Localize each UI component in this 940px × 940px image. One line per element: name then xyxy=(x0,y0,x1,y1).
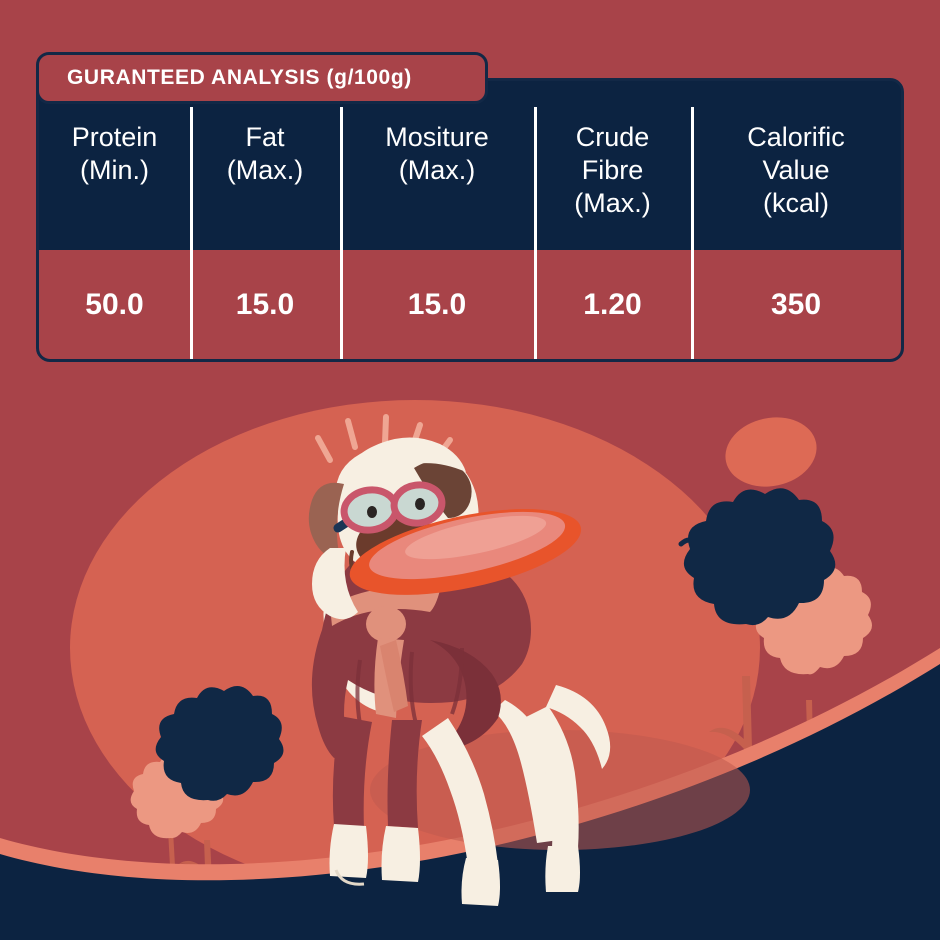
table-header-cell-fat: Fat (Max.) xyxy=(190,107,340,250)
nutrition-table-title: GURANTEED ANALYSIS (g/100g) xyxy=(67,66,412,90)
table-header-cell-protein: Protein (Min.) xyxy=(39,107,190,250)
dog-back-paw xyxy=(462,858,501,906)
value-label: 350 xyxy=(771,288,821,322)
dog-eye-left xyxy=(367,506,377,518)
value-label: 50.0 xyxy=(85,288,143,322)
header-label: Fat (Max.) xyxy=(227,107,304,187)
motion-line xyxy=(385,417,386,443)
table-header-cell-calorific-value: Calorific Value (kcal) xyxy=(691,107,901,250)
table-header-row: Protein (Min.) Fat (Max.) Mositure (Max.… xyxy=(39,81,901,250)
header-label: Crude Fibre (Max.) xyxy=(574,107,651,220)
table-value-cell-crude-fibre: 1.20 xyxy=(534,250,691,359)
table-header-cell-moisture: Mositure (Max.) xyxy=(340,107,534,250)
table-header-cell-crude-fibre: Crude Fibre (Max.) xyxy=(534,107,691,250)
dog-front-paw-right xyxy=(382,826,421,882)
table-value-cell-moisture: 15.0 xyxy=(340,250,534,359)
header-label: Mositure (Max.) xyxy=(385,107,489,187)
nutrition-table-title-badge: GURANTEED ANALYSIS (g/100g) xyxy=(36,52,488,104)
table-value-row: 50.0 15.0 15.0 1.20 350 xyxy=(39,250,901,359)
value-label: 15.0 xyxy=(236,288,294,322)
table-value-cell-fat: 15.0 xyxy=(190,250,340,359)
dog-rear-paw xyxy=(545,846,580,892)
scarf-knot xyxy=(366,606,406,642)
header-label: Protein (Min.) xyxy=(72,107,158,187)
dog-front-paw-left xyxy=(330,824,369,878)
value-label: 1.20 xyxy=(583,288,641,322)
value-label: 15.0 xyxy=(408,288,466,322)
dog-front-leg-right xyxy=(388,720,423,828)
nutrition-table-body: Protein (Min.) Fat (Max.) Mositure (Max.… xyxy=(36,78,904,362)
table-value-cell-calorific-value: 350 xyxy=(691,250,901,359)
table-value-cell-protein: 50.0 xyxy=(39,250,190,359)
header-label: Calorific Value (kcal) xyxy=(747,107,845,220)
poster-canvas: Protein (Min.) Fat (Max.) Mositure (Max.… xyxy=(0,0,940,940)
dog-eye-right xyxy=(415,498,425,510)
